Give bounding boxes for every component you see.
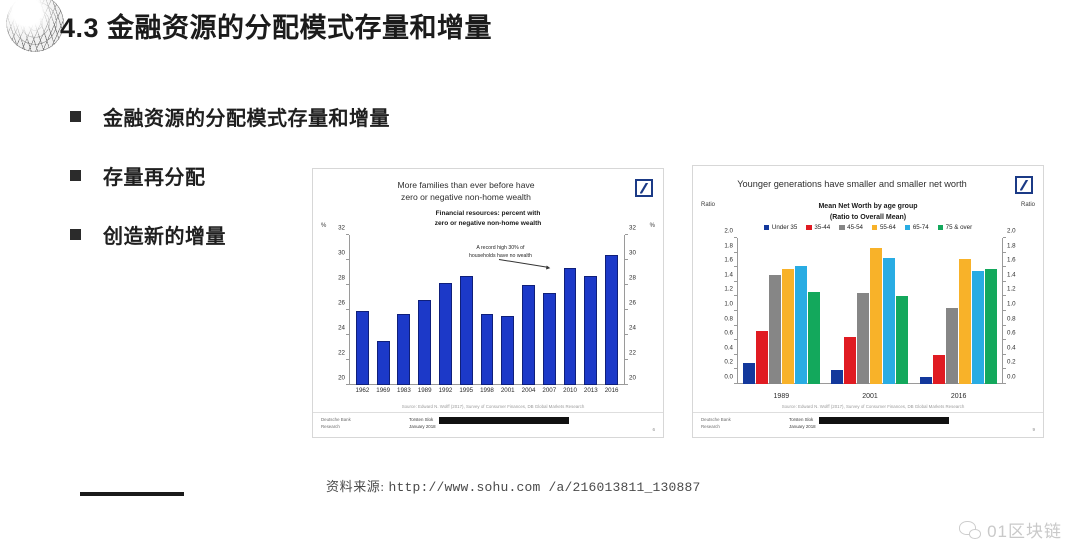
- y-tick-label: 1.6: [1007, 257, 1016, 264]
- y-tick-mark: [625, 384, 628, 385]
- redaction-bar: [439, 417, 569, 424]
- chart-footer: Deutsche Bank Research Torsten Slok Janu…: [693, 412, 1043, 437]
- y-tick-label: 24: [338, 325, 345, 332]
- bar: [959, 259, 971, 384]
- x-tick-label: 2016: [601, 387, 622, 394]
- y-tick-mark: [625, 234, 628, 235]
- y-tick-mark: [1003, 368, 1006, 369]
- x-tick-label: 2001: [497, 387, 518, 394]
- bullet-square-icon: [70, 170, 81, 181]
- x-tick-label: 1969: [373, 387, 394, 394]
- y-tick-label: 28: [338, 275, 345, 282]
- x-tick-label: 1989: [414, 387, 435, 394]
- bar-group: [743, 238, 820, 384]
- bar: [972, 271, 984, 384]
- y-tick-label: 0.8: [1007, 315, 1016, 322]
- y-tick-label: 1.8: [1007, 242, 1016, 249]
- bar: [933, 355, 945, 384]
- legend-item: 35-44: [806, 224, 830, 231]
- source-note: Source: Edward N. Wolff (2017), Survey o…: [343, 404, 643, 409]
- bar: [743, 363, 755, 384]
- y-tick-label: 0.2: [1007, 359, 1016, 366]
- y-tick-label: 30: [629, 250, 636, 257]
- bar-group: [831, 238, 908, 384]
- right-axis-caption: Ratio: [1021, 202, 1035, 208]
- y-tick-label: 1.4: [1007, 271, 1016, 278]
- x-tick-label: 2007: [539, 387, 560, 394]
- footer-author: Torsten Slok January 2018: [789, 417, 816, 430]
- bar: [808, 292, 820, 384]
- bar: [946, 308, 958, 384]
- legend-label: Under 35: [772, 224, 797, 231]
- page-title: 4.3 金融资源的分配模式存量和增量: [60, 6, 492, 45]
- y-tick-label: 0.6: [724, 330, 733, 337]
- bar: [844, 337, 856, 384]
- y-tick-label: 0.6: [1007, 330, 1016, 337]
- legend-swatch: [905, 225, 911, 231]
- page-number: 9: [1032, 427, 1035, 432]
- bar: [564, 268, 577, 386]
- y-tick-label: 1.2: [724, 286, 733, 293]
- bar: [870, 248, 882, 384]
- source-caption-label: 资料来源:: [326, 479, 385, 494]
- y-tick-mark: [1003, 310, 1006, 311]
- y-tick-label: 1.2: [1007, 286, 1016, 293]
- legend-swatch: [764, 225, 770, 231]
- left-axis-caption: Ratio: [701, 202, 715, 208]
- y-tick-label: 2.0: [1007, 228, 1016, 235]
- y-tick-label: 22: [629, 350, 636, 357]
- chart-title: Mean Net Worth by age group (Ratio to Ov…: [729, 202, 1007, 223]
- bar: [356, 311, 369, 385]
- bar: [522, 285, 535, 385]
- legend-label: 75 & over: [946, 224, 972, 231]
- legend-label: 55-64: [880, 224, 896, 231]
- y-tick-label: 20: [629, 375, 636, 382]
- y-tick-label: 0.0: [1007, 374, 1016, 381]
- y-tick-mark: [625, 259, 628, 260]
- x-tick-label: 2010: [560, 387, 581, 394]
- y-tick-mark: [625, 284, 628, 285]
- globe-wireframe-icon: [6, 0, 64, 52]
- y-tick-label: 30: [338, 250, 345, 257]
- x-tick-label: 2001: [862, 393, 878, 400]
- bullet-text: 金融资源的分配模式存量和增量: [103, 102, 390, 131]
- bar: [543, 293, 556, 386]
- y-tick-label: 1.0: [1007, 301, 1016, 308]
- y-tick-label: 1.0: [724, 301, 733, 308]
- legend-swatch: [938, 225, 944, 231]
- y-tick-mark: [625, 334, 628, 335]
- y-tick-mark: [1003, 295, 1006, 296]
- bar: [782, 269, 794, 384]
- source-caption: 资料来源: http://www.sohu.com /a/216013811_1…: [326, 476, 701, 495]
- deutsche-bank-logo-icon: [1015, 176, 1033, 194]
- legend-swatch: [872, 225, 878, 231]
- legend-item: 55-64: [872, 224, 896, 231]
- y-tick-mark: [1003, 266, 1006, 267]
- x-tick-label: 1962: [352, 387, 373, 394]
- right-axis-caption: %: [650, 223, 655, 229]
- x-tick-label: 1989: [774, 393, 790, 400]
- x-tick-labels: 1962196919831989199219951998200120042007…: [349, 385, 625, 394]
- chart-title: Financial resources: percent with zero o…: [349, 209, 627, 229]
- bar: [584, 276, 597, 385]
- x-tick-label: 1995: [456, 387, 477, 394]
- source-note: Source: Edward N. Wolff (2017), Survey o…: [723, 404, 1023, 409]
- y-tick-mark: [1003, 339, 1006, 340]
- y-tick-label: 32: [338, 225, 345, 232]
- footer-brand: Deutsche Bank Research: [321, 417, 351, 430]
- footer-author: Torsten Slok January 2018: [409, 417, 436, 430]
- bar: [985, 269, 997, 384]
- y-tick-mark: [1003, 237, 1006, 238]
- y-tick-label: 28: [629, 275, 636, 282]
- y-tick-label: 22: [338, 350, 345, 357]
- bullet-text: 存量再分配: [103, 161, 206, 190]
- x-tick-label: 2004: [518, 387, 539, 394]
- bar-slot: [580, 235, 601, 385]
- bar-slot: [435, 235, 456, 385]
- bar-slot: [373, 235, 394, 385]
- y-tick-label: 0.4: [1007, 344, 1016, 351]
- legend-swatch: [839, 225, 845, 231]
- chart-headline: Younger generations have smaller and sma…: [701, 178, 1003, 191]
- legend-label: 65-74: [913, 224, 929, 231]
- y-tick-mark: [625, 359, 628, 360]
- bar: [883, 258, 895, 384]
- chart-footer: Deutsche Bank Research Torsten Slok Janu…: [313, 412, 663, 437]
- list-item: 金融资源的分配模式存量和增量: [70, 102, 390, 131]
- bar: [857, 293, 869, 384]
- bar: [605, 255, 618, 385]
- y-tick-label: 0.8: [724, 315, 733, 322]
- footer-brand: Deutsche Bank Research: [701, 417, 731, 430]
- bar-slot: [352, 235, 373, 385]
- divider: [80, 492, 184, 496]
- bar: [769, 275, 781, 385]
- left-axis-caption: %: [321, 223, 326, 229]
- y-tick-label: 0.0: [724, 374, 733, 381]
- bar-slot: [560, 235, 581, 385]
- watermark-text: 01区块链: [987, 517, 1062, 542]
- y-tick-label: 1.4: [724, 271, 733, 278]
- legend-swatch: [806, 225, 812, 231]
- x-tick-labels: 198920012016: [737, 384, 1003, 400]
- bar: [460, 276, 473, 385]
- y-tick-mark: [1003, 252, 1006, 253]
- legend-item: 65-74: [905, 224, 929, 231]
- y-tick-label: 2.0: [724, 228, 733, 235]
- source-caption-url: http://www.sohu.com /a/216013811_130887: [388, 480, 700, 495]
- bullet-square-icon: [70, 111, 81, 122]
- plot-area: 2020222224242626282830303232 19621969198…: [349, 235, 625, 385]
- legend-item: 45-54: [839, 224, 863, 231]
- chart-legend: Under 3535-4445-5455-6465-7475 & over: [705, 224, 1031, 231]
- y-tick-label: 32: [629, 225, 636, 232]
- y-tick-label: 26: [629, 300, 636, 307]
- bar-slot: [601, 235, 622, 385]
- y-tick-label: 26: [338, 300, 345, 307]
- chart-card-left: More families than ever before have zero…: [312, 168, 664, 438]
- y-tick-label: 1.6: [724, 257, 733, 264]
- legend-label: 35-44: [814, 224, 830, 231]
- wechat-icon: [959, 521, 981, 539]
- bar-slot: [394, 235, 415, 385]
- y-tick-mark: [1003, 281, 1006, 282]
- y-tick-label: 0.2: [724, 359, 733, 366]
- x-tick-label: 2013: [580, 387, 601, 394]
- legend-item: 75 & over: [938, 224, 972, 231]
- legend-label: 45-54: [847, 224, 863, 231]
- y-tick-mark: [625, 309, 628, 310]
- x-tick-label: 1998: [477, 387, 498, 394]
- bar: [439, 283, 452, 386]
- bar: [756, 331, 768, 384]
- bar: [831, 370, 843, 384]
- chart-card-right: Younger generations have smaller and sma…: [692, 165, 1044, 438]
- grouped-bar-series: [737, 238, 1003, 384]
- redaction-bar: [819, 417, 949, 424]
- bar: [481, 314, 494, 385]
- y-tick-label: 24: [629, 325, 636, 332]
- bar-slot: [539, 235, 560, 385]
- bar-group: [920, 238, 997, 384]
- bar: [397, 314, 410, 385]
- legend-item: Under 35: [764, 224, 797, 231]
- y-tick-mark: [1003, 383, 1006, 384]
- x-tick-label: 1983: [394, 387, 415, 394]
- y-tick-mark: [1003, 354, 1006, 355]
- bar: [501, 316, 514, 385]
- bar: [418, 300, 431, 385]
- chart-headline: More families than ever before have zero…: [313, 179, 619, 204]
- y-tick-label: 1.8: [724, 242, 733, 249]
- deutsche-bank-logo-icon: [635, 179, 653, 197]
- bullet-text: 创造新的增量: [103, 220, 226, 249]
- watermark: 01区块链: [959, 517, 1062, 542]
- y-tick-label: 0.4: [724, 344, 733, 351]
- x-tick-label: 2016: [951, 393, 967, 400]
- bar: [896, 296, 908, 384]
- x-tick-label: 1992: [435, 387, 456, 394]
- y-tick-label: 20: [338, 375, 345, 382]
- bar: [795, 266, 807, 384]
- plot-area: 0.00.00.20.20.40.40.60.60.80.81.01.01.21…: [737, 238, 1003, 384]
- bullet-square-icon: [70, 229, 81, 240]
- bar-slot: [414, 235, 435, 385]
- bar: [377, 341, 390, 385]
- y-tick-mark: [1003, 325, 1006, 326]
- page-number: 6: [652, 427, 655, 432]
